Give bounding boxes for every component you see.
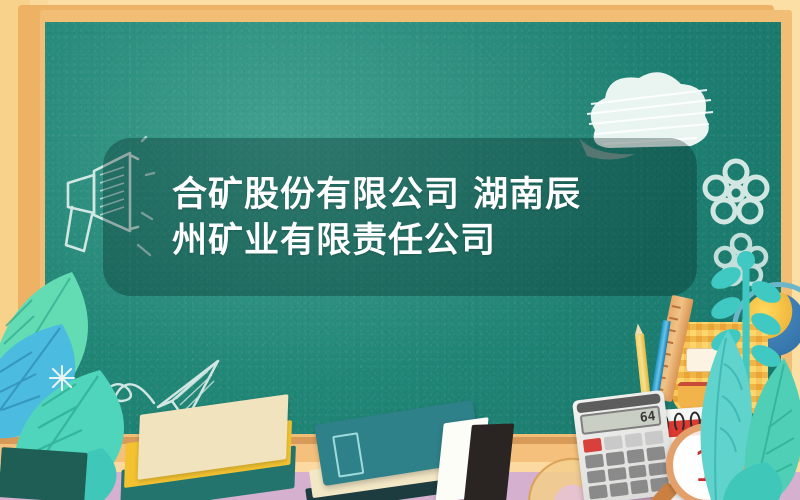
book-side <box>0 447 88 500</box>
calculator-key <box>587 469 606 484</box>
page-title-line-2: 州矿业有限责任公司 <box>172 218 644 264</box>
calculator-key <box>630 480 649 495</box>
calculator-key <box>605 451 624 466</box>
page-title-line-1: 合矿股份有限公司 湖南辰 <box>172 172 644 218</box>
calculator-key <box>624 433 643 448</box>
page-title: 合矿股份有限公司 湖南辰 州矿业有限责任公司 <box>172 172 644 264</box>
calculator: 64 <box>572 390 676 500</box>
calculator-key <box>628 464 647 479</box>
pencil-tip <box>634 323 643 335</box>
calculator-key <box>626 448 645 463</box>
calculator-key <box>609 482 628 497</box>
calculator-key <box>646 446 665 461</box>
leaf-bottom-right <box>720 460 800 500</box>
calculator-key <box>603 435 622 450</box>
calculator-key <box>645 430 664 445</box>
calculator-key <box>583 438 602 453</box>
book-open-cover <box>464 423 515 500</box>
calculator-key <box>607 467 626 482</box>
calculator-key <box>589 485 608 500</box>
calculator-key <box>648 461 667 476</box>
banner-canvas: 合矿股份有限公司 湖南辰 州矿业有限责任公司 <box>0 0 800 500</box>
book-cover-mark <box>332 432 364 478</box>
calculator-key <box>585 453 604 468</box>
calculator-keypad <box>583 430 670 499</box>
